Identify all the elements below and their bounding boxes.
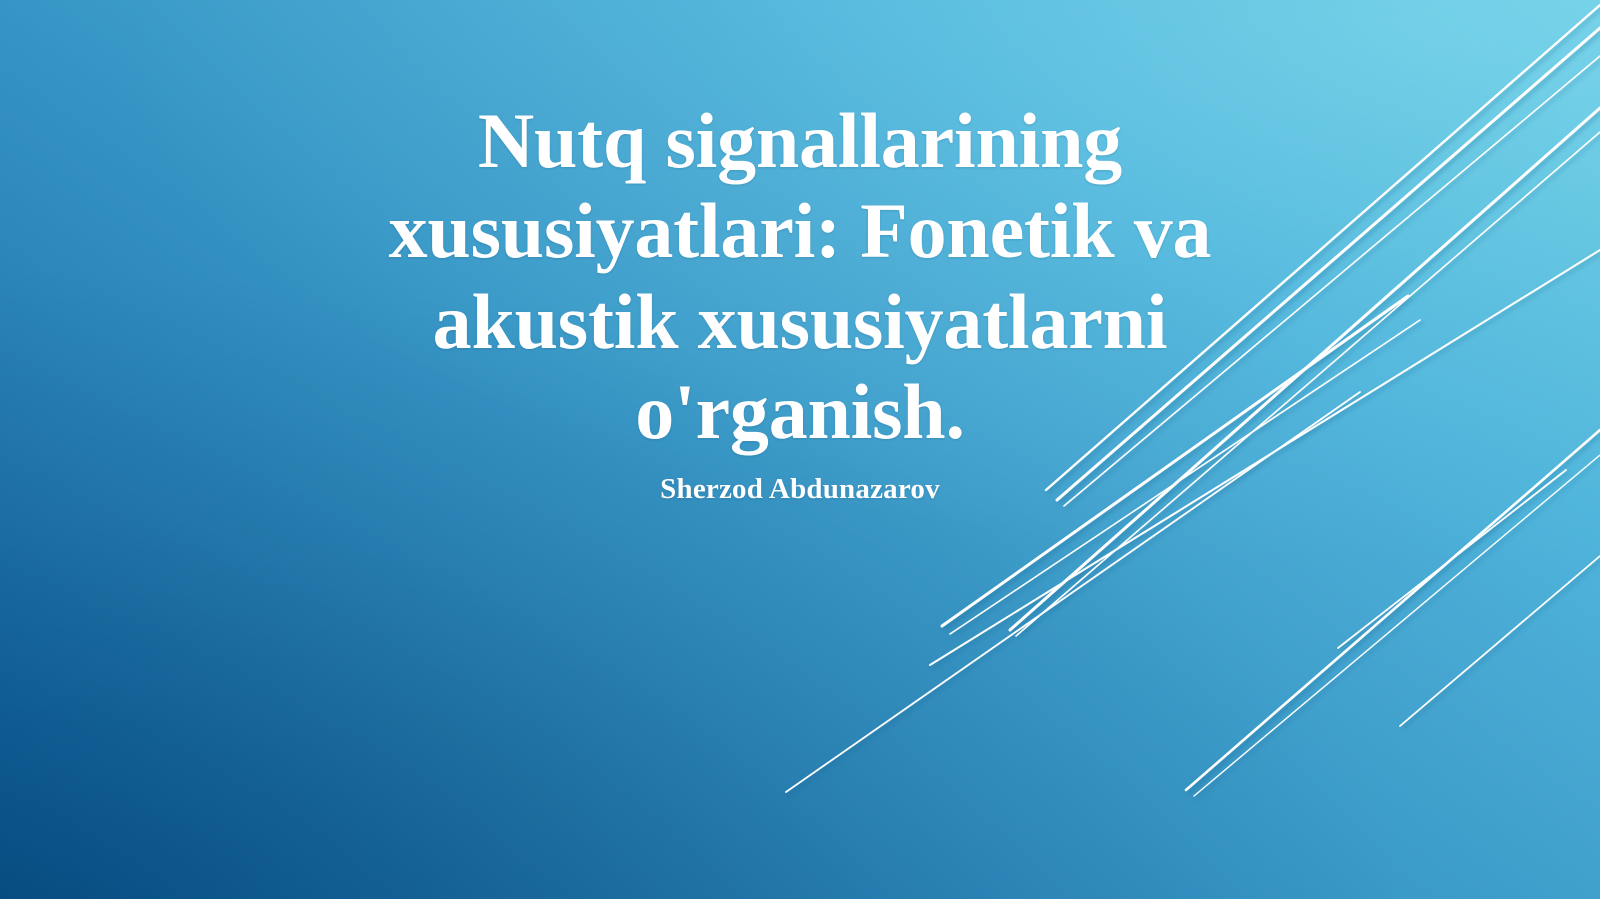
title-slide: Nutq signallarining xususiyatlari: Fonet… <box>0 0 1600 899</box>
slide-text-block: Nutq signallarining xususiyatlari: Fonet… <box>0 96 1600 507</box>
page-title: Nutq signallarining xususiyatlari: Fonet… <box>295 96 1305 458</box>
slide-subtitle-author: Sherzod Abdunazarov <box>60 472 1540 507</box>
